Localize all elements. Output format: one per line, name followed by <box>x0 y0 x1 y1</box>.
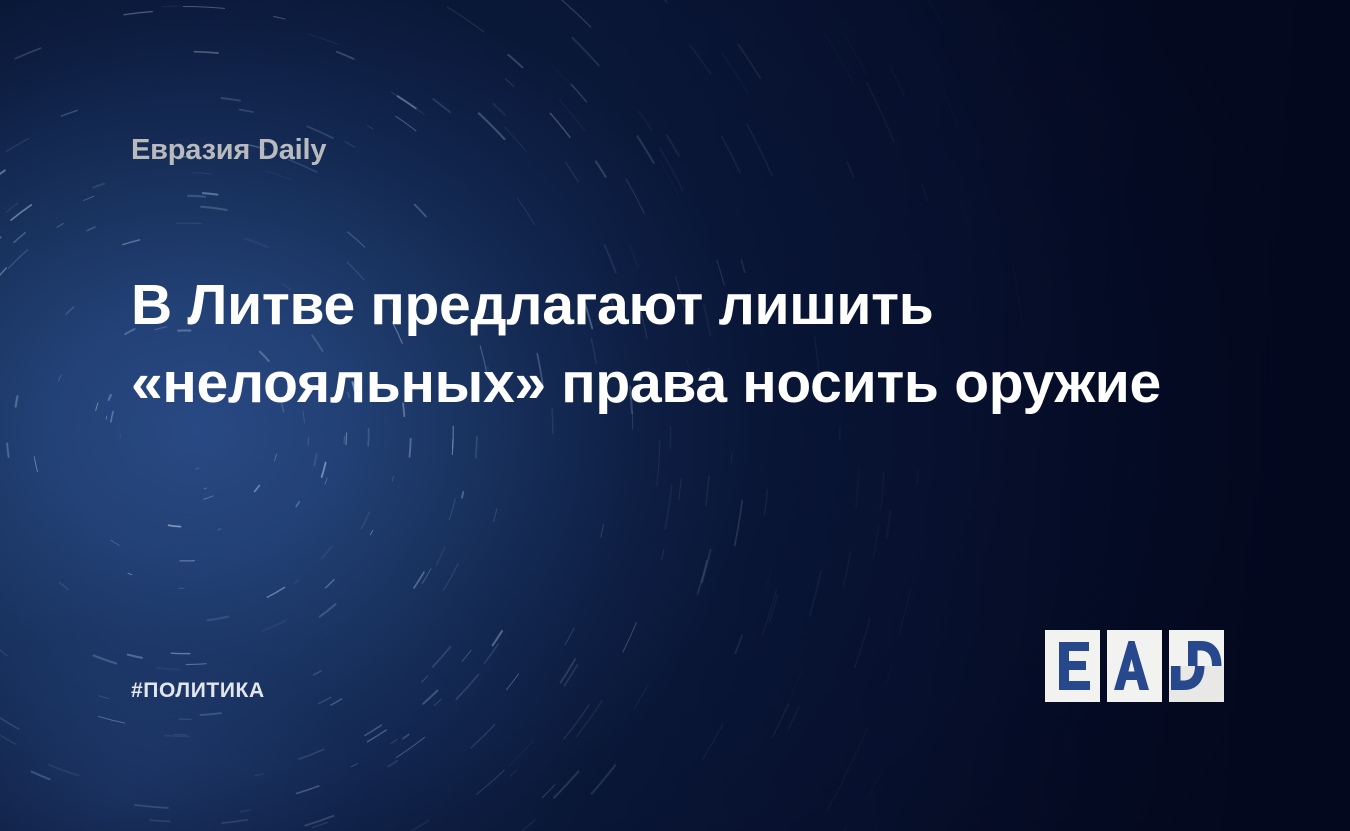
category-tag: #ПОЛИТИКА <box>131 679 265 703</box>
ead-logo[interactable] <box>1045 630 1225 702</box>
logo-letter-e <box>1059 642 1090 690</box>
brand-title: Евразия Daily <box>131 134 326 167</box>
news-share-card: Евразия Daily В Литве предлагают лишить … <box>0 0 1350 831</box>
headline-line-1: В Литве предлагают лишить <box>131 266 1131 344</box>
headline: В Литве предлагают лишить «нелояльных» п… <box>131 266 1131 422</box>
card-content: Евразия Daily В Литве предлагают лишить … <box>0 0 1350 831</box>
headline-line-2: «нелояльных» права носить оружие <box>131 344 1131 422</box>
